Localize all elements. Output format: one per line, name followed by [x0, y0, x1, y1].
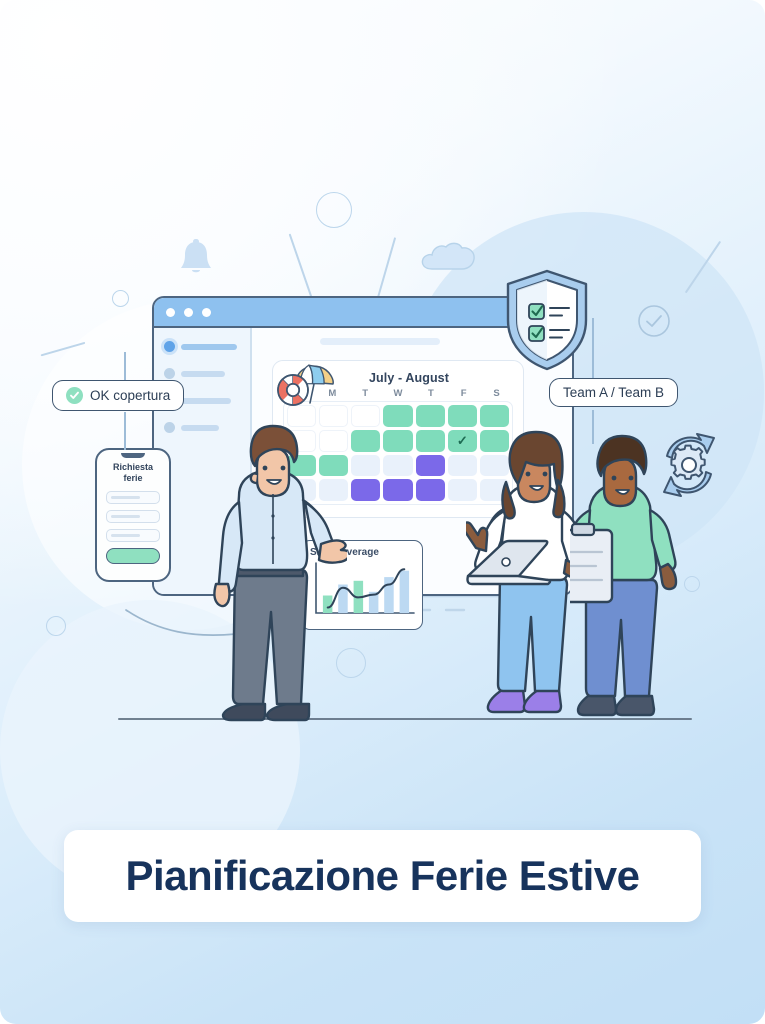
window-dot-close[interactable] — [166, 308, 175, 317]
illustration-canvas: July - August M T W T F S ✓ — [0, 0, 765, 1024]
calendar-cell-3-3[interactable] — [383, 479, 412, 501]
window-dot-maximize[interactable] — [202, 308, 211, 317]
phone-input-1[interactable] — [106, 491, 160, 504]
decor-ring-left — [112, 290, 129, 307]
calendar-cell-1-4[interactable] — [416, 430, 445, 452]
character-presenter-man — [183, 404, 347, 724]
beach-icons-group — [276, 362, 338, 408]
calendar-cell-0-3[interactable] — [383, 405, 412, 427]
decor-ring-top — [316, 192, 352, 228]
character-man-clipboard — [570, 424, 692, 724]
mobile-request-mockup[interactable]: Richiesta ferie — [95, 448, 171, 582]
sidebar-item-0[interactable] — [164, 341, 242, 352]
sidebar-bullet-icon — [164, 368, 175, 379]
page-title: Pianificazione Ferie Estive — [125, 852, 639, 900]
phone-title-line2: ferie — [123, 473, 142, 483]
weekday-label: T — [414, 388, 447, 399]
check-circle-outline-icon — [637, 304, 671, 338]
bell-icon — [178, 238, 214, 278]
phone-input-2[interactable] — [106, 510, 160, 523]
sidebar-item-label — [181, 398, 231, 404]
chart-bar-5 — [400, 571, 410, 613]
phone-title: Richiesta ferie — [106, 462, 160, 483]
input-placeholder — [111, 534, 140, 537]
cloud-icon — [419, 238, 479, 272]
life-ring-icon — [278, 375, 308, 405]
decor-ring-lowleft — [46, 616, 66, 636]
calendar-cell-2-3[interactable] — [383, 455, 412, 477]
calendar-cell-1-2[interactable] — [351, 430, 380, 452]
pill-connector-ok-bottom — [124, 412, 126, 450]
weekday-label: T — [349, 388, 382, 399]
calendar-cell-3-2[interactable] — [351, 479, 380, 501]
weekday-label: W — [382, 388, 415, 399]
input-placeholder — [111, 515, 140, 518]
content-placeholder-bar — [320, 338, 440, 345]
status-badge-label: OK copertura — [90, 388, 170, 403]
status-badge-coverage[interactable]: OK copertura — [52, 380, 184, 411]
decor-slash-1 — [289, 234, 313, 301]
phone-submit-button[interactable] — [106, 548, 160, 564]
pill-connector-ok-top — [124, 352, 126, 382]
input-placeholder — [111, 496, 140, 499]
calendar-cell-3-4[interactable] — [416, 479, 445, 501]
window-dot-minimize[interactable] — [184, 308, 193, 317]
sidebar-item-label — [181, 344, 237, 350]
calendar-cell-1-3[interactable] — [383, 430, 412, 452]
title-banner: Pianificazione Ferie Estive — [64, 830, 701, 922]
calendar-cell-2-2[interactable] — [351, 455, 380, 477]
weekday-label: F — [447, 388, 480, 399]
clipboard-icon — [570, 524, 612, 602]
weekday-label: S — [480, 388, 513, 399]
team-badge[interactable]: Team A / Team B — [549, 378, 678, 407]
calendar-cell-0-4[interactable] — [416, 405, 445, 427]
calendar-cell-2-4[interactable] — [416, 455, 445, 477]
calendar-cell-0-2[interactable] — [351, 405, 380, 427]
shield-checklist-icon — [503, 268, 591, 372]
team-badge-label: Team A / Team B — [563, 385, 664, 400]
pill-connector-team-top — [592, 318, 594, 378]
phone-title-line1: Richiesta — [113, 462, 153, 472]
sidebar-item-label — [181, 371, 225, 377]
phone-input-3[interactable] — [106, 529, 160, 542]
sidebar-bullet-icon — [164, 341, 175, 352]
check-circle-icon — [66, 387, 83, 404]
sidebar-bullet-icon — [164, 422, 175, 433]
sidebar-item-1[interactable] — [164, 368, 242, 379]
